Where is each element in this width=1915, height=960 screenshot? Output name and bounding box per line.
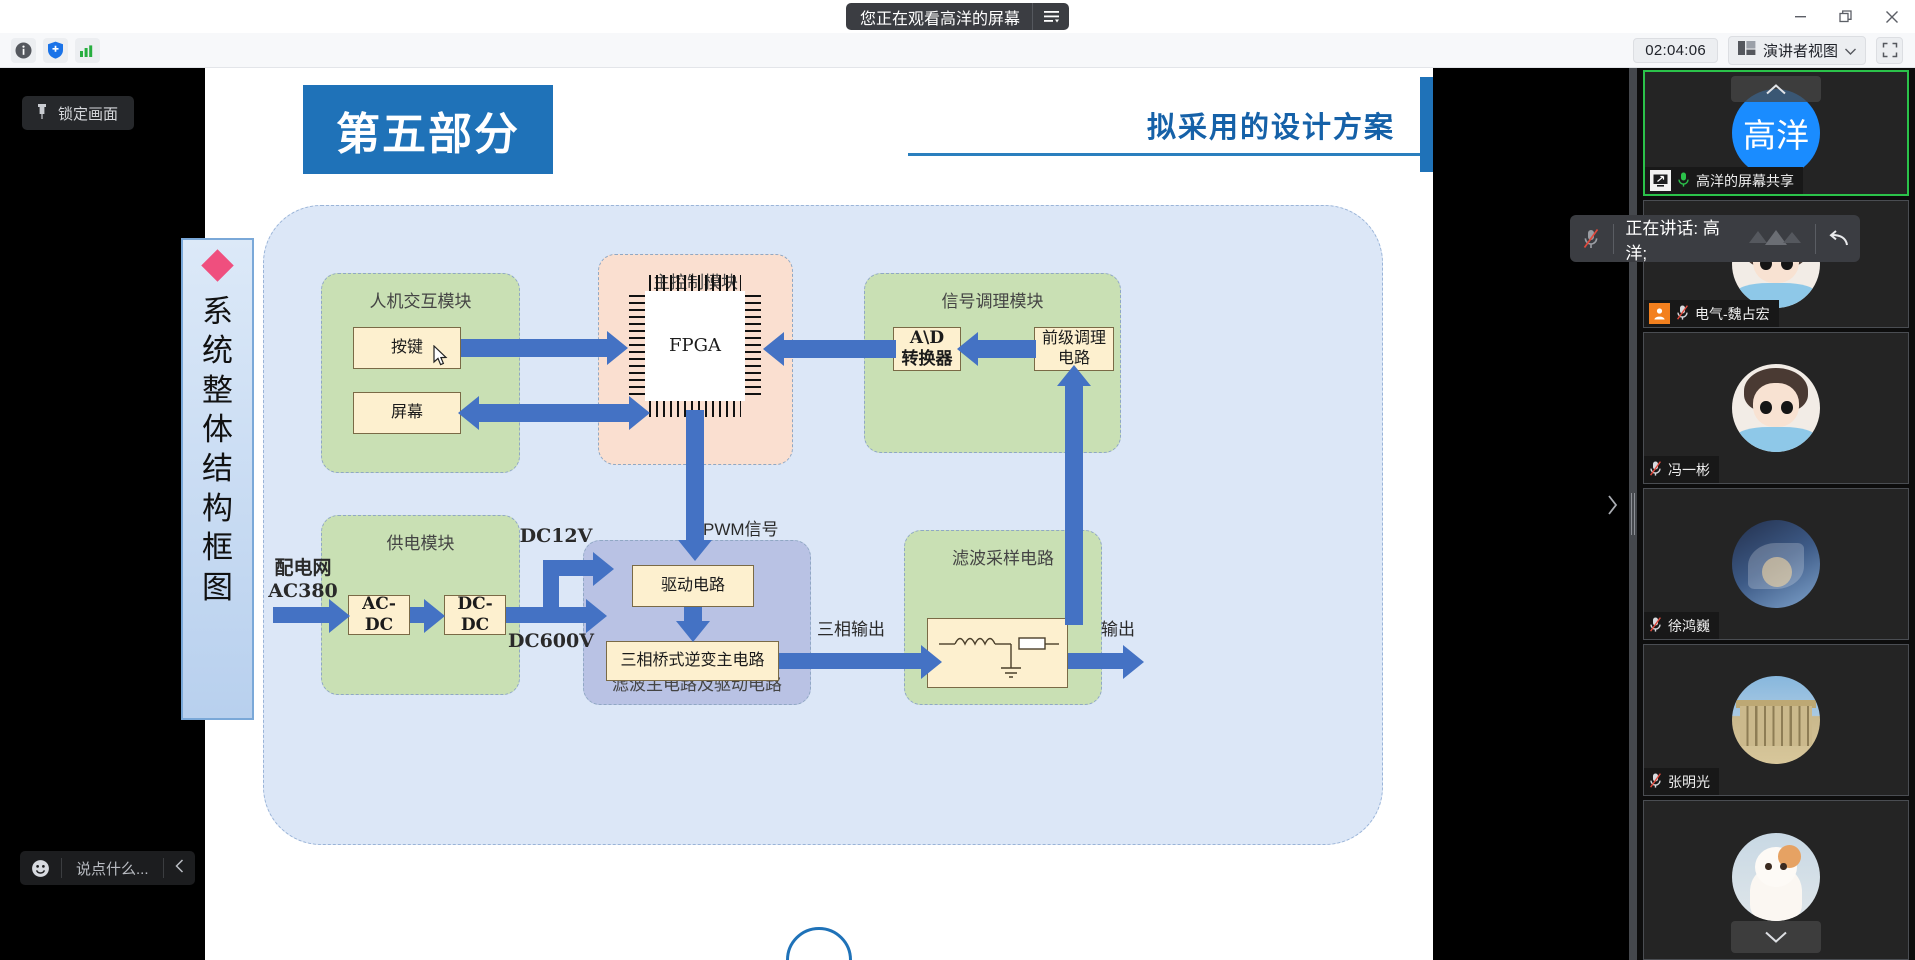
participant-name: 高洋的屏幕共享 [1696,171,1794,191]
box-bridge: 三相桥式逆变主电路 [606,641,779,681]
box-filter-circuit [927,618,1068,688]
mic-muted-icon [1649,460,1662,480]
arrow-preamp-to-adc [978,340,1036,358]
box-screen: 屏幕 [353,392,461,434]
arrow-fpga-pwm-head [678,540,712,561]
emoji-icon[interactable] [20,859,61,878]
group-signal-conditioning-label: 信号调理模块 [865,287,1120,312]
pin-icon [35,103,49,124]
hamburger-icon[interactable] [1033,3,1069,30]
label-grid-input: 配电网 AC380 [258,557,348,603]
close-icon[interactable] [1869,0,1915,33]
reply-arrow-icon[interactable] [1816,230,1860,248]
presentation-slide: 第五部分 拟采用的设计方案 系 统 整 体 结 构 框 图 人机交互模块 按键 … [205,68,1433,960]
arrow-dc12v-head [593,552,614,586]
chip-pins-right [745,295,761,397]
box-ac-dc: AC-DC [348,595,410,635]
avatar: 高洋 [1732,89,1820,177]
arrow-fpga-to-screen-head2 [629,396,650,430]
host-icon [1649,303,1670,324]
avatar-illustration [1732,364,1820,452]
system-block-diagram: 人机交互模块 按键 屏幕 主控制模块 FPGA 信号调理模块 [263,205,1383,845]
watching-screen-pill: 您正在观看高洋的屏幕 [846,3,1069,30]
window-titlebar: 您正在观看高洋的屏幕 [0,0,1915,33]
arrow-key-to-fpga [461,339,607,357]
avatar [1732,364,1820,452]
label-pwm: PWM信号 [703,520,813,540]
fullscreen-icon[interactable] [1876,37,1903,64]
arrow-dc12v-run [543,560,593,576]
arrow-fpga-to-screen-head [458,396,479,430]
shield-plus-icon[interactable] [43,38,68,63]
lock-screen-button[interactable]: 锁定画面 [22,96,134,130]
arrow-fpga-to-screen [479,404,629,422]
watching-screen-text: 您正在观看高洋的屏幕 [846,5,1032,29]
chevron-right-icon[interactable] [1600,488,1624,522]
mic-muted-icon [1649,772,1662,792]
chat-input-placeholder[interactable]: 说点什么... [62,858,163,879]
restore-icon[interactable] [1823,0,1869,33]
avatar [1732,676,1820,764]
participant-name: 电气-魏占宏 [1695,304,1770,324]
participant-name: 冯一彬 [1668,460,1710,480]
rail-drag-handle[interactable] [1629,68,1637,960]
group-hmi-label: 人机交互模块 [322,287,519,312]
speaking-text: 正在讲话: 高洋; [1613,214,1744,264]
participant-tile-5[interactable] [1643,800,1909,960]
arrow-driver-to-bridge-head [676,621,710,642]
box-preamp-label: 前级调理 电路 [1042,329,1106,368]
participant-tile-3[interactable]: 徐鸿巍 [1643,488,1909,640]
chevron-left-icon[interactable] [164,859,195,877]
arrow-adc-to-fpga [784,340,896,358]
chat-input-bar[interactable]: 说点什么... [20,851,195,885]
layout-icon [1738,40,1756,60]
label-dc600v: DC600V [501,630,601,653]
mic-on-icon [1677,171,1690,191]
speaking-banner: 正在讲话: 高洋; [1570,215,1860,262]
chevron-down-icon[interactable] [1731,921,1821,953]
meeting-toolbar: 02:04:06 演讲者视图 [0,33,1915,68]
avatar-illustration [1732,520,1820,608]
chip-pins-left [629,295,645,397]
arrow-adc-to-fpga-head [763,332,784,366]
chip-pins-top [649,275,741,291]
avatar-illustration [1732,676,1820,764]
view-mode-selector[interactable]: 演讲者视图 [1728,36,1866,65]
group-power-supply-label: 供电模块 [322,529,519,554]
label-output: 输出 [1083,620,1153,640]
arrow-filter-to-output [1068,653,1123,669]
minimize-icon[interactable] [1777,0,1823,33]
sound-waves-icon [1745,227,1815,251]
participant-tile-2[interactable]: 冯一彬 [1643,332,1909,484]
chevron-down-icon [1845,42,1856,59]
participants-rail: 高洋 高洋的屏幕共享 [1637,68,1915,960]
arrow-filter-to-output-head [1123,645,1144,679]
slide-section-badge: 第五部分 [303,85,553,174]
shared-screen-stage: 锁定画面 第五部分 拟采用的设计方案 系 统 整 体 结 构 框 图 人机交互模… [0,68,1637,960]
lock-screen-label: 锁定画面 [58,103,118,124]
label-three-phase-out: 三相输出 [791,620,911,640]
vertical-title-text: 系 统 整 体 结 构 框 图 [183,293,252,608]
box-fpga: FPGA [645,291,745,401]
avatar-illustration [1732,833,1820,921]
avatar [1732,520,1820,608]
box-driver: 驱动电路 [632,565,754,607]
mic-muted-icon [1676,304,1689,324]
arrow-filter-to-preamp [1065,385,1083,625]
arrow-acdc-to-dcdc-head [424,599,445,633]
meeting-timer: 02:04:06 [1633,38,1718,63]
participant-namebar: 张明光 [1644,768,1719,795]
screen-share-icon [1650,170,1671,191]
arrow-grid-to-acdc [273,607,329,623]
view-mode-label: 演讲者视图 [1763,40,1838,61]
participant-namebar: 徐鸿巍 [1644,612,1719,639]
chevron-up-icon[interactable] [1731,76,1821,102]
participant-tile-4[interactable]: 张明光 [1643,644,1909,796]
participant-namebar: 冯一彬 [1644,456,1719,483]
mic-muted-icon [1570,227,1613,251]
title-underline [908,153,1423,156]
zoom-meeting-window: 您正在观看高洋的屏幕 [0,0,1915,960]
vertical-title-panel: 系 统 整 体 结 构 框 图 [181,238,254,720]
toolbar-right-controls: 02:04:06 演讲者视图 [1633,36,1915,65]
diamond-bullet-icon [201,249,234,282]
participant-tile-0[interactable]: 高洋 高洋的屏幕共享 [1643,70,1909,196]
toolbar-left-icons [0,38,100,63]
arrow-preamp-to-adc-head [957,332,978,366]
avatar-initials: 高洋 [1743,109,1809,157]
window-controls [1777,0,1915,33]
slide-title: 拟采用的设计方案 [1147,104,1395,146]
mic-muted-icon [1649,616,1662,636]
arrow-fpga-pwm [686,410,704,540]
avatar [1732,833,1820,921]
arrow-bridge-to-filter [779,653,921,669]
participant-namebar: 高洋的屏幕共享 [1645,167,1803,194]
arrow-dc600v-head [586,599,607,633]
participant-namebar: 电气-魏占宏 [1644,300,1779,327]
info-icon[interactable] [11,38,36,63]
participant-name: 张明光 [1668,772,1710,792]
group-hmi: 人机交互模块 [321,273,520,473]
box-adc-label: A\D 转换器 [902,328,953,369]
arrow-grid-to-acdc-head [329,599,350,633]
label-dc12v: DC12V [511,525,601,548]
lc-filter-schematic-icon [933,624,1063,682]
box-adc: A\D 转换器 [893,327,961,371]
mouse-cursor-icon [433,345,449,367]
arrow-filter-to-preamp-head [1057,365,1091,386]
slide-bottom-decoration [786,927,852,960]
box-dc-dc: DC-DC [444,595,506,635]
arrow-bridge-to-filter-head [921,645,942,679]
title-accent-tab [1420,77,1433,172]
signal-bars-icon[interactable] [75,38,100,63]
arrow-key-to-fpga-head [607,331,628,365]
participant-name: 徐鸿巍 [1668,616,1710,636]
